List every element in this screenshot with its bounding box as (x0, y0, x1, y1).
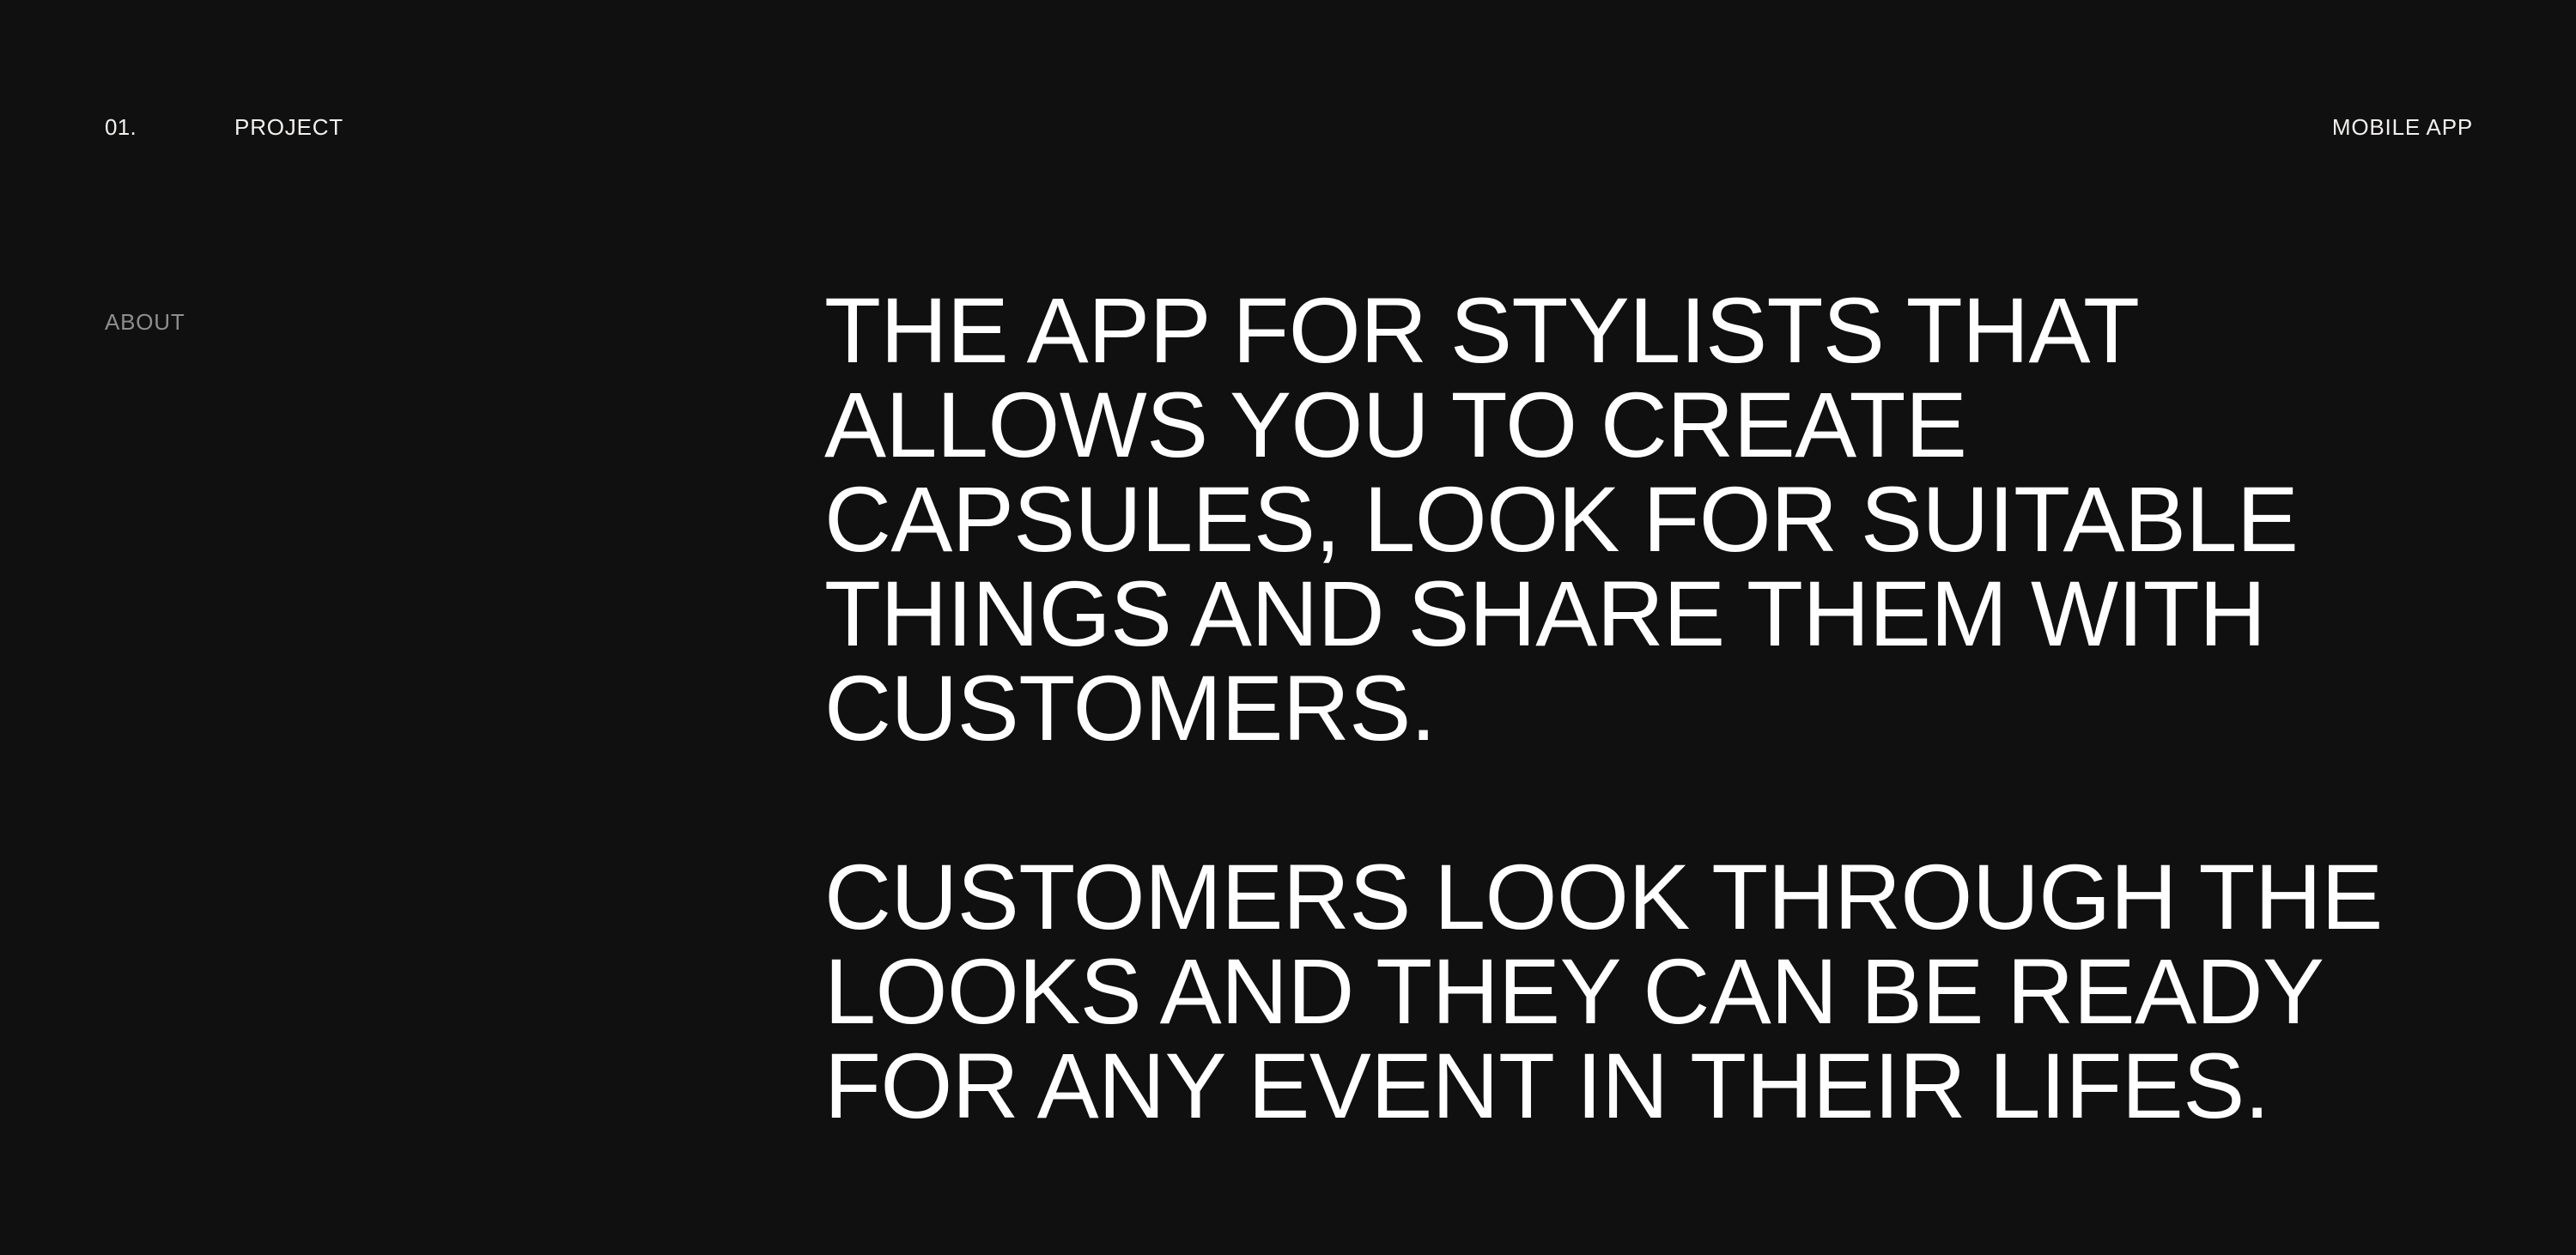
project-index-number: 01. (105, 114, 137, 140)
project-category-label: MOBILE APP (2332, 114, 2473, 140)
page-header-meta-row: 01. PROJECT MOBILE APP (0, 114, 2576, 149)
project-label: PROJECT (234, 114, 343, 140)
header-left-group: 01. PROJECT (105, 114, 343, 140)
project-about-page: 01. PROJECT MOBILE APP ABOUT THE APP FOR… (0, 0, 2576, 1255)
statement-paragraph-2: CUSTOMERS LOOK THROUGH THE LOOKS AND THE… (824, 850, 2456, 1133)
section-label-about: ABOUT (105, 309, 185, 335)
about-statement-block: THE APP FOR STYLISTS THAT ALLOWS YOU TO … (824, 283, 2456, 1133)
statement-paragraph-1: THE APP FOR STYLISTS THAT ALLOWS YOU TO … (824, 283, 2456, 755)
header-right-group: MOBILE APP (2332, 114, 2473, 140)
